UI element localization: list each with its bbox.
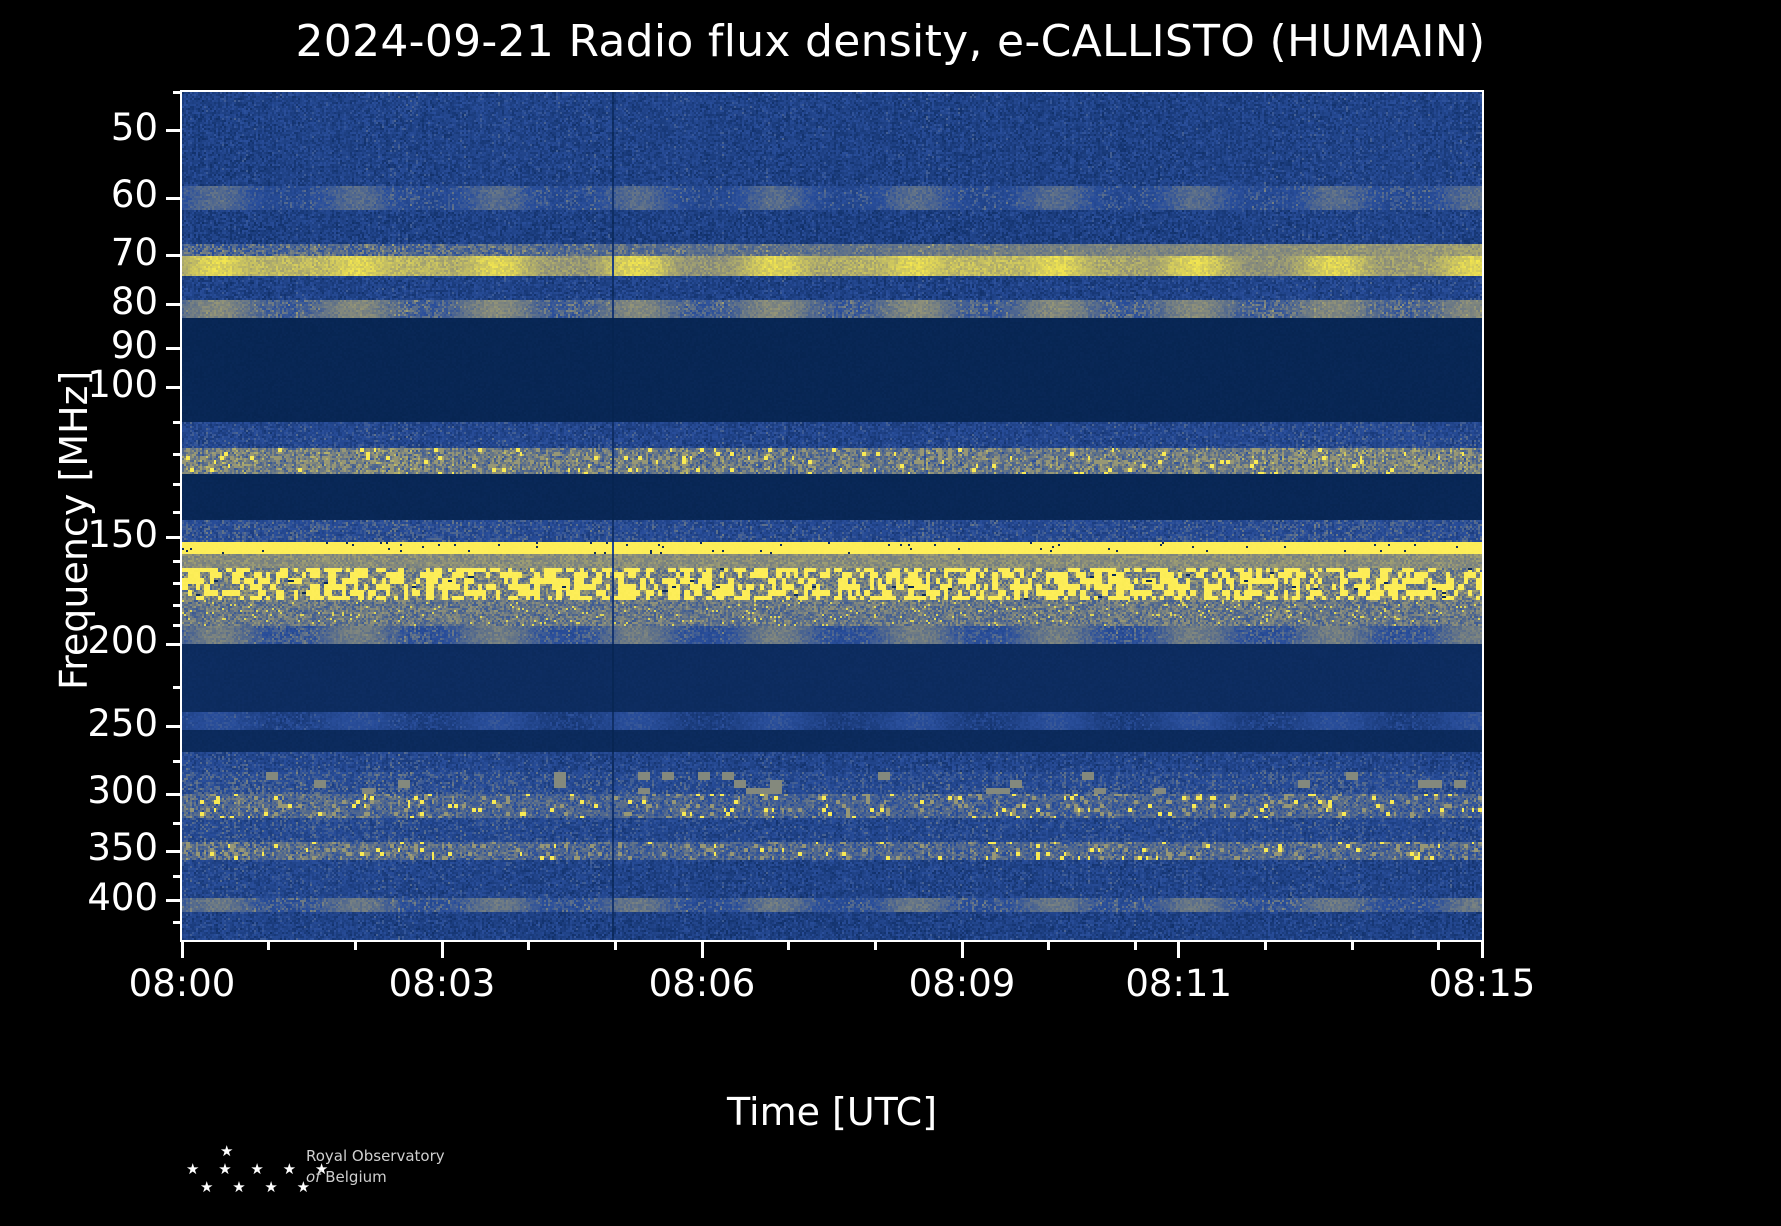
x-tick-major (701, 940, 704, 958)
y-tick-major (166, 725, 182, 728)
x-tick-label: 08:09 (882, 962, 1042, 1005)
y-tick-minor (173, 560, 182, 563)
x-tick-minor (1437, 940, 1440, 950)
y-tick-major (166, 197, 182, 200)
x-tick-minor (874, 940, 877, 950)
x-tick-label: 08:06 (622, 962, 782, 1005)
y-tick-label: 150 (0, 513, 158, 556)
logo-of-word: of (306, 1168, 320, 1186)
y-tick-minor (173, 875, 182, 878)
y-tick-minor (173, 421, 182, 424)
y-tick-minor (173, 760, 182, 763)
y-tick-major (166, 303, 182, 306)
x-tick-label: 08:00 (102, 962, 262, 1005)
x-tick-minor (1134, 940, 1137, 950)
y-tick-minor (173, 511, 182, 514)
y-tick-major (166, 254, 182, 257)
spectrogram-plot (182, 92, 1482, 940)
y-tick-minor (173, 921, 182, 924)
x-tick-major (1177, 940, 1180, 958)
y-tick-minor (173, 624, 182, 627)
y-tick-label: 50 (0, 106, 158, 149)
logo-stars-bottom: ★ ★ ★ ★ (200, 1179, 317, 1195)
y-tick-minor (173, 822, 182, 825)
x-tick-minor (527, 940, 530, 950)
y-tick-major (166, 793, 182, 796)
x-tick-major (441, 940, 444, 958)
logo-line-2: of Belgium (306, 1167, 445, 1188)
y-tick-major (166, 536, 182, 539)
y-tick-label: 60 (0, 173, 158, 216)
x-tick-label: 08:03 (362, 962, 522, 1005)
y-tick-label: 70 (0, 231, 158, 274)
x-tick-label: 08:15 (1402, 962, 1562, 1005)
y-tick-major (166, 899, 182, 902)
y-tick-label: 100 (0, 363, 158, 406)
x-tick-minor (1264, 940, 1267, 950)
x-tick-minor (267, 940, 270, 950)
y-tick-major (166, 129, 182, 132)
x-axis-label: Time [UTC] (182, 1090, 1482, 1134)
y-tick-minor (173, 686, 182, 689)
y-tick-major (166, 386, 182, 389)
figure-canvas: 2024-09-21 Radio flux density, e-CALLIST… (0, 0, 1781, 1226)
y-tick-minor (173, 483, 182, 486)
y-tick-label: 250 (0, 702, 158, 745)
royal-observatory-logo: ★ ★ ★ ★ ★ ★ ★ ★ ★ ★ Royal Observatory of… (178, 1143, 518, 1209)
star-icon: ★ ★ ★ ★ (200, 1178, 317, 1196)
star-icon: ★ (220, 1142, 240, 1160)
y-tick-minor (173, 91, 182, 94)
logo-stars-top: ★ (220, 1143, 240, 1159)
y-tick-label: 350 (0, 826, 158, 869)
x-tick-minor (787, 940, 790, 950)
y-tick-major (166, 347, 182, 350)
y-tick-minor (173, 582, 182, 585)
x-tick-major (181, 940, 184, 958)
x-tick-major (1481, 940, 1484, 958)
y-tick-major (166, 643, 182, 646)
logo-text: Royal Observatory of Belgium (306, 1146, 445, 1189)
y-tick-label: 300 (0, 769, 158, 812)
y-tick-label: 200 (0, 619, 158, 662)
y-tick-label: 80 (0, 280, 158, 323)
x-tick-minor (614, 940, 617, 950)
spectrogram-image (182, 92, 1482, 940)
x-tick-minor (1351, 940, 1354, 950)
x-tick-minor (354, 940, 357, 950)
y-tick-minor (173, 604, 182, 607)
x-tick-minor (1047, 940, 1050, 950)
y-tick-minor (173, 453, 182, 456)
y-tick-label: 90 (0, 324, 158, 367)
logo-country: Belgium (325, 1168, 387, 1186)
page-title: 2024-09-21 Radio flux density, e-CALLIST… (0, 16, 1781, 67)
x-tick-major (961, 940, 964, 958)
logo-line-1: Royal Observatory (306, 1146, 445, 1167)
x-tick-label: 08:11 (1099, 962, 1259, 1005)
y-tick-major (166, 850, 182, 853)
y-tick-label: 400 (0, 876, 158, 919)
